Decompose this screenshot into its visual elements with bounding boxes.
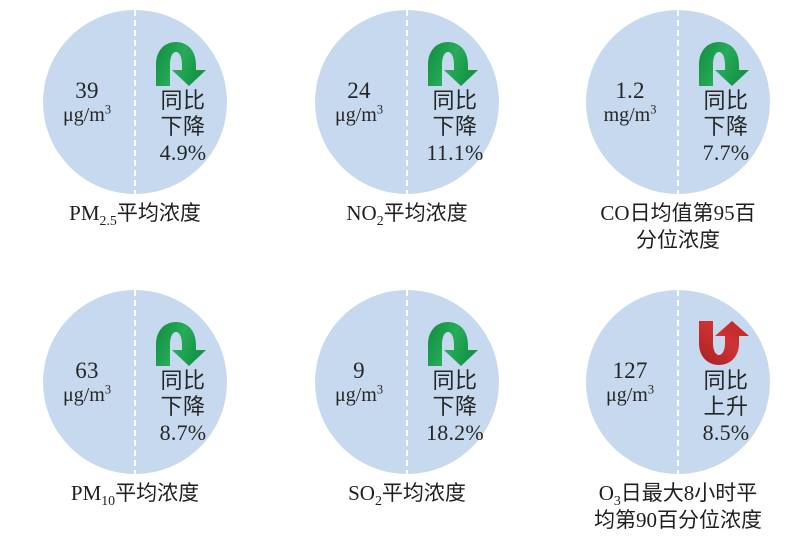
metric-caption-so2: SO2平均浓度: [272, 480, 542, 507]
caption-text: CO日均值第95百: [600, 201, 755, 225]
caption-text-tail: 平均浓度: [384, 201, 468, 225]
caption-text: 均第90百分位浓度: [594, 508, 762, 532]
metric-unit: μg/m3: [606, 384, 654, 406]
caption-text: 分位浓度: [636, 228, 720, 252]
arrow-down-curve-icon: [152, 39, 214, 87]
metric-disc-so2: 9μg/m3同比下降18.2%: [315, 290, 499, 474]
disc-divider: [134, 10, 136, 194]
value-half-no2: 24μg/m3: [315, 10, 407, 194]
arrow-down-curve-icon: [424, 39, 486, 87]
trend-half-so2: 同比下降18.2%: [407, 290, 499, 474]
caption-subscript: 2.5: [100, 213, 117, 228]
trend-percent: 8.5%: [703, 420, 750, 446]
trend-label-line2: 上升: [703, 394, 748, 420]
caption-line: SO2平均浓度: [278, 480, 536, 507]
trend-percent: 7.7%: [703, 140, 750, 166]
trend-half-pm25: 同比下降4.9%: [135, 10, 227, 194]
metric-card-o3: 127μg/m3同比上升8.5%O3日最大8小时平均第90百分位浓度: [543, 280, 800, 534]
trend-label-line1: 同比: [432, 368, 477, 394]
trend-arrow-slot: [152, 317, 214, 367]
metric-unit-base: μg/m: [606, 384, 648, 406]
metric-value: 127: [612, 358, 647, 384]
trend-percent: 11.1%: [426, 140, 483, 166]
trend-half-o3: 同比上升8.5%: [678, 290, 770, 474]
caption-subscript: 2: [377, 213, 384, 228]
trend-label-line2: 下降: [160, 394, 205, 420]
metric-card-pm25: 39μg/m3同比下降4.9%PM2.5平均浓度: [0, 0, 270, 227]
metric-caption-no2: NO2平均浓度: [272, 200, 542, 227]
metric-unit: μg/m3: [335, 104, 383, 126]
caption-line: O3日最大8小时平: [549, 480, 800, 507]
trend-half-no2: 同比下降11.1%: [407, 10, 499, 194]
metric-unit-exponent: 3: [105, 102, 111, 116]
metric-unit: μg/m3: [335, 384, 383, 406]
metric-caption-co: CO日均值第95百分位浓度: [543, 200, 800, 254]
metric-unit-exponent: 3: [105, 382, 111, 396]
metric-unit: mg/m3: [604, 104, 657, 126]
metric-unit-base: μg/m: [63, 104, 105, 126]
caption-text: SO: [348, 481, 375, 505]
disc-divider: [677, 290, 679, 474]
trend-arrow-slot: [695, 317, 757, 367]
trend-arrow-slot: [424, 317, 486, 367]
trend-label-line2: 下降: [432, 394, 477, 420]
caption-line: PM10平均浓度: [6, 480, 264, 507]
metric-unit-exponent: 3: [377, 102, 383, 116]
trend-percent: 8.7%: [160, 420, 207, 446]
value-half-pm25: 39μg/m3: [43, 10, 135, 194]
trend-percent: 18.2%: [426, 420, 484, 446]
caption-text: O: [599, 481, 614, 505]
trend-label-line2: 下降: [432, 114, 477, 140]
metric-caption-o3: O3日最大8小时平均第90百分位浓度: [543, 480, 800, 534]
metric-card-pm10: 63μg/m3同比下降8.7%PM10平均浓度: [0, 280, 270, 507]
trend-label-line2: 下降: [703, 114, 748, 140]
metric-card-co: 1.2mg/m3同比下降7.7%CO日均值第95百分位浓度: [543, 0, 800, 254]
trend-label-line1: 同比: [432, 88, 477, 114]
metric-disc-o3: 127μg/m3同比上升8.5%: [586, 290, 770, 474]
trend-arrow-slot: [695, 37, 757, 87]
value-half-so2: 9μg/m3: [315, 290, 407, 474]
caption-text-tail: 日最大8小时平: [621, 481, 758, 505]
metric-disc-pm10: 63μg/m3同比下降8.7%: [43, 290, 227, 474]
arrow-down-curve-icon: [152, 319, 214, 367]
metric-card-so2: 9μg/m3同比下降18.2%SO2平均浓度: [272, 280, 542, 507]
caption-subscript: 10: [101, 493, 115, 508]
caption-line: 分位浓度: [549, 227, 800, 254]
caption-line: NO2平均浓度: [278, 200, 536, 227]
trend-label-line1: 同比: [703, 368, 748, 394]
trend-percent: 4.9%: [160, 140, 207, 166]
disc-divider: [406, 290, 408, 474]
trend-arrow-slot: [424, 37, 486, 87]
metric-unit-exponent: 3: [377, 382, 383, 396]
trend-label-line1: 同比: [160, 368, 205, 394]
metric-unit-base: μg/m: [63, 384, 105, 406]
caption-text: NO: [346, 201, 376, 225]
metric-caption-pm10: PM10平均浓度: [0, 480, 270, 507]
caption-text: PM: [71, 481, 101, 505]
air-quality-infographic: 39μg/m3同比下降4.9%PM2.5平均浓度24μg/m3同比下降11.1%…: [0, 0, 800, 536]
metric-disc-co: 1.2mg/m3同比下降7.7%: [586, 10, 770, 194]
metric-card-no2: 24μg/m3同比下降11.1%NO2平均浓度: [272, 0, 542, 227]
metric-value: 9: [353, 358, 365, 384]
disc-divider: [406, 10, 408, 194]
metric-unit-base: μg/m: [335, 104, 377, 126]
metric-unit: μg/m3: [63, 384, 111, 406]
trend-arrow-slot: [152, 37, 214, 87]
caption-line: CO日均值第95百: [549, 200, 800, 227]
metric-unit: μg/m3: [63, 104, 111, 126]
caption-line: 均第90百分位浓度: [549, 507, 800, 534]
caption-line: PM2.5平均浓度: [6, 200, 264, 227]
trend-label-line1: 同比: [160, 88, 205, 114]
value-half-co: 1.2mg/m3: [586, 10, 678, 194]
metric-unit-base: mg/m: [604, 104, 651, 126]
trend-label-line1: 同比: [703, 88, 748, 114]
arrow-down-curve-icon: [424, 319, 486, 367]
metric-disc-no2: 24μg/m3同比下降11.1%: [315, 10, 499, 194]
metric-value: 63: [75, 358, 98, 384]
metric-disc-pm25: 39μg/m3同比下降4.9%: [43, 10, 227, 194]
value-half-o3: 127μg/m3: [586, 290, 678, 474]
arrow-down-curve-icon: [695, 39, 757, 87]
metric-value: 39: [75, 78, 98, 104]
arrow-up-curve-icon: [695, 319, 757, 367]
metric-unit-exponent: 3: [648, 382, 654, 396]
caption-text-tail: 平均浓度: [115, 481, 199, 505]
disc-divider: [677, 10, 679, 194]
caption-subscript: 2: [375, 493, 382, 508]
metric-caption-pm25: PM2.5平均浓度: [0, 200, 270, 227]
trend-half-pm10: 同比下降8.7%: [135, 290, 227, 474]
caption-text-tail: 平均浓度: [382, 481, 466, 505]
caption-text: PM: [69, 201, 99, 225]
disc-divider: [134, 290, 136, 474]
metric-unit-base: μg/m: [335, 384, 377, 406]
caption-text-tail: 平均浓度: [117, 201, 201, 225]
value-half-pm10: 63μg/m3: [43, 290, 135, 474]
caption-subscript: 3: [614, 493, 621, 508]
metric-value: 1.2: [615, 78, 644, 104]
metric-value: 24: [347, 78, 370, 104]
trend-half-co: 同比下降7.7%: [678, 10, 770, 194]
trend-label-line2: 下降: [160, 114, 205, 140]
metric-unit-exponent: 3: [650, 102, 656, 116]
